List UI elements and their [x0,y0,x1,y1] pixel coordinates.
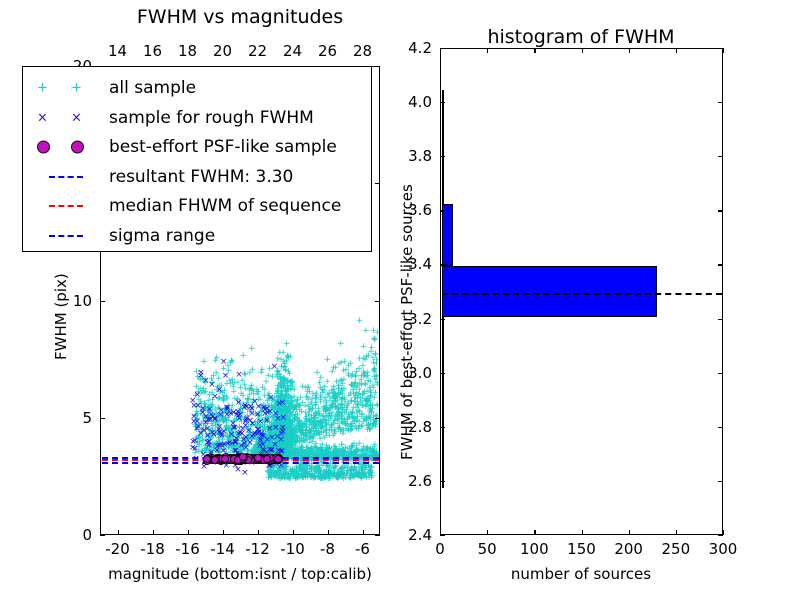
histogram-bar [442,317,444,368]
scatter-point-rough-fwhm: × [208,381,216,390]
scatter-point-all-sample: + [302,418,310,427]
scatter-xtick-top: 24 [283,42,302,60]
scatter-point-rough-fwhm: × [241,469,249,478]
scatter-xtick-bottom: -12 [245,540,270,558]
legend-item-label: all sample [109,78,196,98]
histogram-title: histogram of FWHM [487,26,674,48]
scatter-point-all-sample: + [257,369,265,378]
scatter-point-all-sample: + [337,340,345,349]
histogram-xlabel: number of sources [511,565,651,583]
scatter-point-rough-fwhm: × [278,430,286,439]
scatter-point-all-sample: + [286,353,294,362]
scatter-point-all-sample: + [335,409,343,418]
histogram-bar [442,90,444,150]
scatter-point-rough-fwhm: × [238,442,246,451]
histogram-bar [442,385,444,436]
histogram-xtick: 250 [662,540,691,558]
scatter-point-all-sample: + [212,357,220,366]
histogram-xtick: 200 [614,540,643,558]
legend-item: ××sample for rough FWHM [23,103,371,133]
scatter-point-psf-like [274,455,282,463]
scatter-point-all-sample: + [353,425,361,434]
scatter-point-all-sample: + [330,465,338,474]
scatter-ytick: 5 [82,409,92,427]
scatter-xtick-top: 14 [108,42,127,60]
legend-dot-icon [71,141,84,154]
scatter-xtick-top: 26 [318,42,337,60]
figure-canvas: FWHM vs magnitudes +++++++++++++++++++++… [0,0,800,600]
scatter-ylabel: FWHM (pix) [52,273,70,360]
scatter-ytick: 0 [82,526,92,544]
scatter-xtick-bottom: -6 [355,540,370,558]
scatter-point-all-sample: + [307,474,315,483]
scatter-point-all-sample: + [280,358,288,367]
scatter-point-all-sample: + [340,475,348,484]
legend-item: median FHWM of sequence [23,191,371,221]
legend-item: resultant FWHM: 3.30 [23,162,371,192]
scatter-point-rough-fwhm: × [257,418,265,427]
histogram-ytick: 3.4 [408,255,432,273]
scatter-point-all-sample: + [356,317,364,326]
histogram-bar [442,369,444,385]
histogram-ytick: 4.0 [408,93,432,111]
histogram-ytick: 2.4 [408,526,432,544]
histogram-resultant-fwhm-line [442,293,722,295]
scatter-point-rough-fwhm: × [246,417,254,426]
scatter-point-all-sample: + [362,327,370,336]
legend-item: ++all sample [23,73,371,103]
scatter-point-all-sample: + [323,421,331,430]
scatter-point-all-sample: + [200,358,208,367]
scatter-xtick-top: 18 [178,42,197,60]
histogram-bar [442,150,445,204]
scatter-xtick-top: 20 [213,42,232,60]
scatter-point-psf-like [254,454,262,462]
scatter-xtick-bottom: -10 [280,540,305,558]
scatter-point-all-sample: + [335,360,343,369]
scatter-point-rough-fwhm: × [191,445,199,454]
scatter-point-rough-fwhm: × [258,432,266,441]
scatter-point-all-sample: + [343,425,351,434]
scatter-point-rough-fwhm: × [255,403,263,412]
legend-item-label: best-effort PSF-like sample [109,137,337,157]
scatter-point-all-sample: + [338,396,346,405]
scatter-point-rough-fwhm: × [272,410,280,419]
scatter-point-rough-fwhm: × [271,363,279,372]
legend-item-label: sigma range [109,226,215,246]
scatter-point-rough-fwhm: × [205,442,213,451]
legend-item-label: resultant FWHM: 3.30 [109,167,293,187]
legend-item-label: median FHWM of sequence [109,196,341,216]
scatter-point-all-sample: + [329,473,337,482]
legend-dashed-line-icon [49,176,83,178]
scatter-point-all-sample: + [248,345,256,354]
scatter-xtick-bottom: -14 [210,540,235,558]
scatter-xtick-top: 22 [248,42,267,60]
legend-dot-icon [37,141,50,154]
scatter-point-all-sample: + [364,403,372,412]
scatter-point-rough-fwhm: × [268,434,276,443]
histogram-ytick: 4.2 [408,39,432,57]
scatter-point-all-sample: + [321,474,329,483]
scatter-point-rough-fwhm: × [256,442,264,451]
scatter-point-all-sample: + [313,369,321,378]
scatter-point-all-sample: + [356,355,364,364]
scatter-point-rough-fwhm: × [224,404,232,413]
scatter-point-rough-fwhm: × [234,466,242,475]
scatter-point-all-sample: + [331,428,339,437]
scatter-point-rough-fwhm: × [233,411,241,420]
scatter-point-all-sample: + [345,370,353,379]
scatter-xtick-bottom: -8 [320,540,335,558]
histogram-xtick: 300 [709,540,738,558]
histogram-xtick: 0 [435,540,445,558]
scatter-point-all-sample: + [287,406,295,415]
legend-item: sigma range [23,221,371,251]
scatter-xtick-top: 28 [353,42,372,60]
scatter-point-all-sample: + [306,428,314,437]
scatter-point-all-sample: + [347,466,355,475]
legend-plus-icon: + [37,82,48,95]
legend-item: best-effort PSF-like sample [23,132,371,162]
scatter-point-rough-fwhm: × [222,372,230,381]
scatter-point-rough-fwhm: × [206,406,214,415]
scatter-point-all-sample: + [372,350,379,359]
scatter-point-all-sample: + [309,405,317,414]
histogram-ytick: 3.8 [408,147,432,165]
histogram-ytick: 3.0 [408,364,432,382]
scatter-point-all-sample: + [223,380,231,389]
legend-dashed-line-icon [49,205,83,207]
scatter-xlabel: magnitude (bottom:isnt / top:calib) [108,565,372,583]
histogram-xtick: 100 [520,540,549,558]
scatter-point-all-sample: + [303,444,311,453]
scatter-point-all-sample: + [253,386,261,395]
scatter-point-rough-fwhm: × [220,428,228,437]
histogram-xtick: 150 [567,540,596,558]
scatter-point-all-sample: + [324,356,332,365]
scatter-point-all-sample: + [269,373,277,382]
legend-item-label: sample for rough FWHM [109,108,314,128]
scatter-point-all-sample: + [358,466,366,475]
histogram-ytick: 3.6 [408,201,432,219]
histogram-bar [442,266,657,317]
histogram-ytick: 2.8 [408,418,432,436]
legend-cross-icon: × [71,111,82,124]
scatter-point-rough-fwhm: × [197,369,205,378]
scatter-point-all-sample: + [295,472,303,481]
histogram-bar [442,204,453,266]
legend-box: ++all sample××sample for rough FWHMbest-… [22,66,372,252]
scatter-point-rough-fwhm: × [194,402,202,411]
scatter-point-psf-like [221,455,229,463]
scatter-point-rough-fwhm: × [235,371,243,380]
scatter-point-rough-fwhm: × [211,393,219,402]
scatter-point-rough-fwhm: × [267,394,275,403]
scatter-point-rough-fwhm: × [218,442,226,451]
scatter-point-all-sample: + [371,336,378,345]
scatter-point-rough-fwhm: × [194,391,202,400]
scatter-xtick-top: 16 [143,42,162,60]
scatter-point-all-sample: + [239,352,247,361]
legend-cross-icon: × [37,111,48,124]
scatter-point-psf-like [211,456,219,464]
scatter-point-all-sample: + [368,472,376,481]
scatter-point-rough-fwhm: × [279,399,287,408]
scatter-point-all-sample: + [283,340,291,349]
legend-plus-icon: + [71,82,82,95]
scatter-point-all-sample: + [289,381,297,390]
scatter-xtick-bottom: -18 [140,540,165,558]
scatter-point-all-sample: + [360,343,368,352]
scatter-plot-title: FWHM vs magnitudes [137,6,343,28]
scatter-point-all-sample: + [308,395,316,404]
scatter-point-rough-fwhm: × [248,405,256,414]
scatter-point-all-sample: + [357,376,365,385]
legend-dashdot-line-icon [49,235,83,237]
scatter-point-rough-fwhm: × [200,427,208,436]
scatter-point-all-sample: + [299,429,307,438]
histogram-bars-layer [442,50,722,534]
scatter-point-rough-fwhm: × [237,429,245,438]
scatter-point-rough-fwhm: × [202,419,210,428]
scatter-point-all-sample: + [372,389,379,398]
scatter-xtick-bottom: -16 [175,540,200,558]
histogram-ytick: 2.6 [408,472,432,490]
scatter-point-all-sample: + [355,365,363,374]
histogram-ytick: 3.2 [408,310,432,328]
histogram-xtick: 50 [478,540,497,558]
scatter-point-all-sample: + [371,423,378,432]
scatter-point-rough-fwhm: × [220,358,228,367]
scatter-point-rough-fwhm: × [249,431,257,440]
scatter-ytick: 10 [73,292,92,310]
scatter-point-all-sample: + [228,358,236,367]
scatter-point-all-sample: + [348,397,356,406]
scatter-point-all-sample: + [356,386,364,395]
scatter-xtick-bottom: -20 [105,540,130,558]
